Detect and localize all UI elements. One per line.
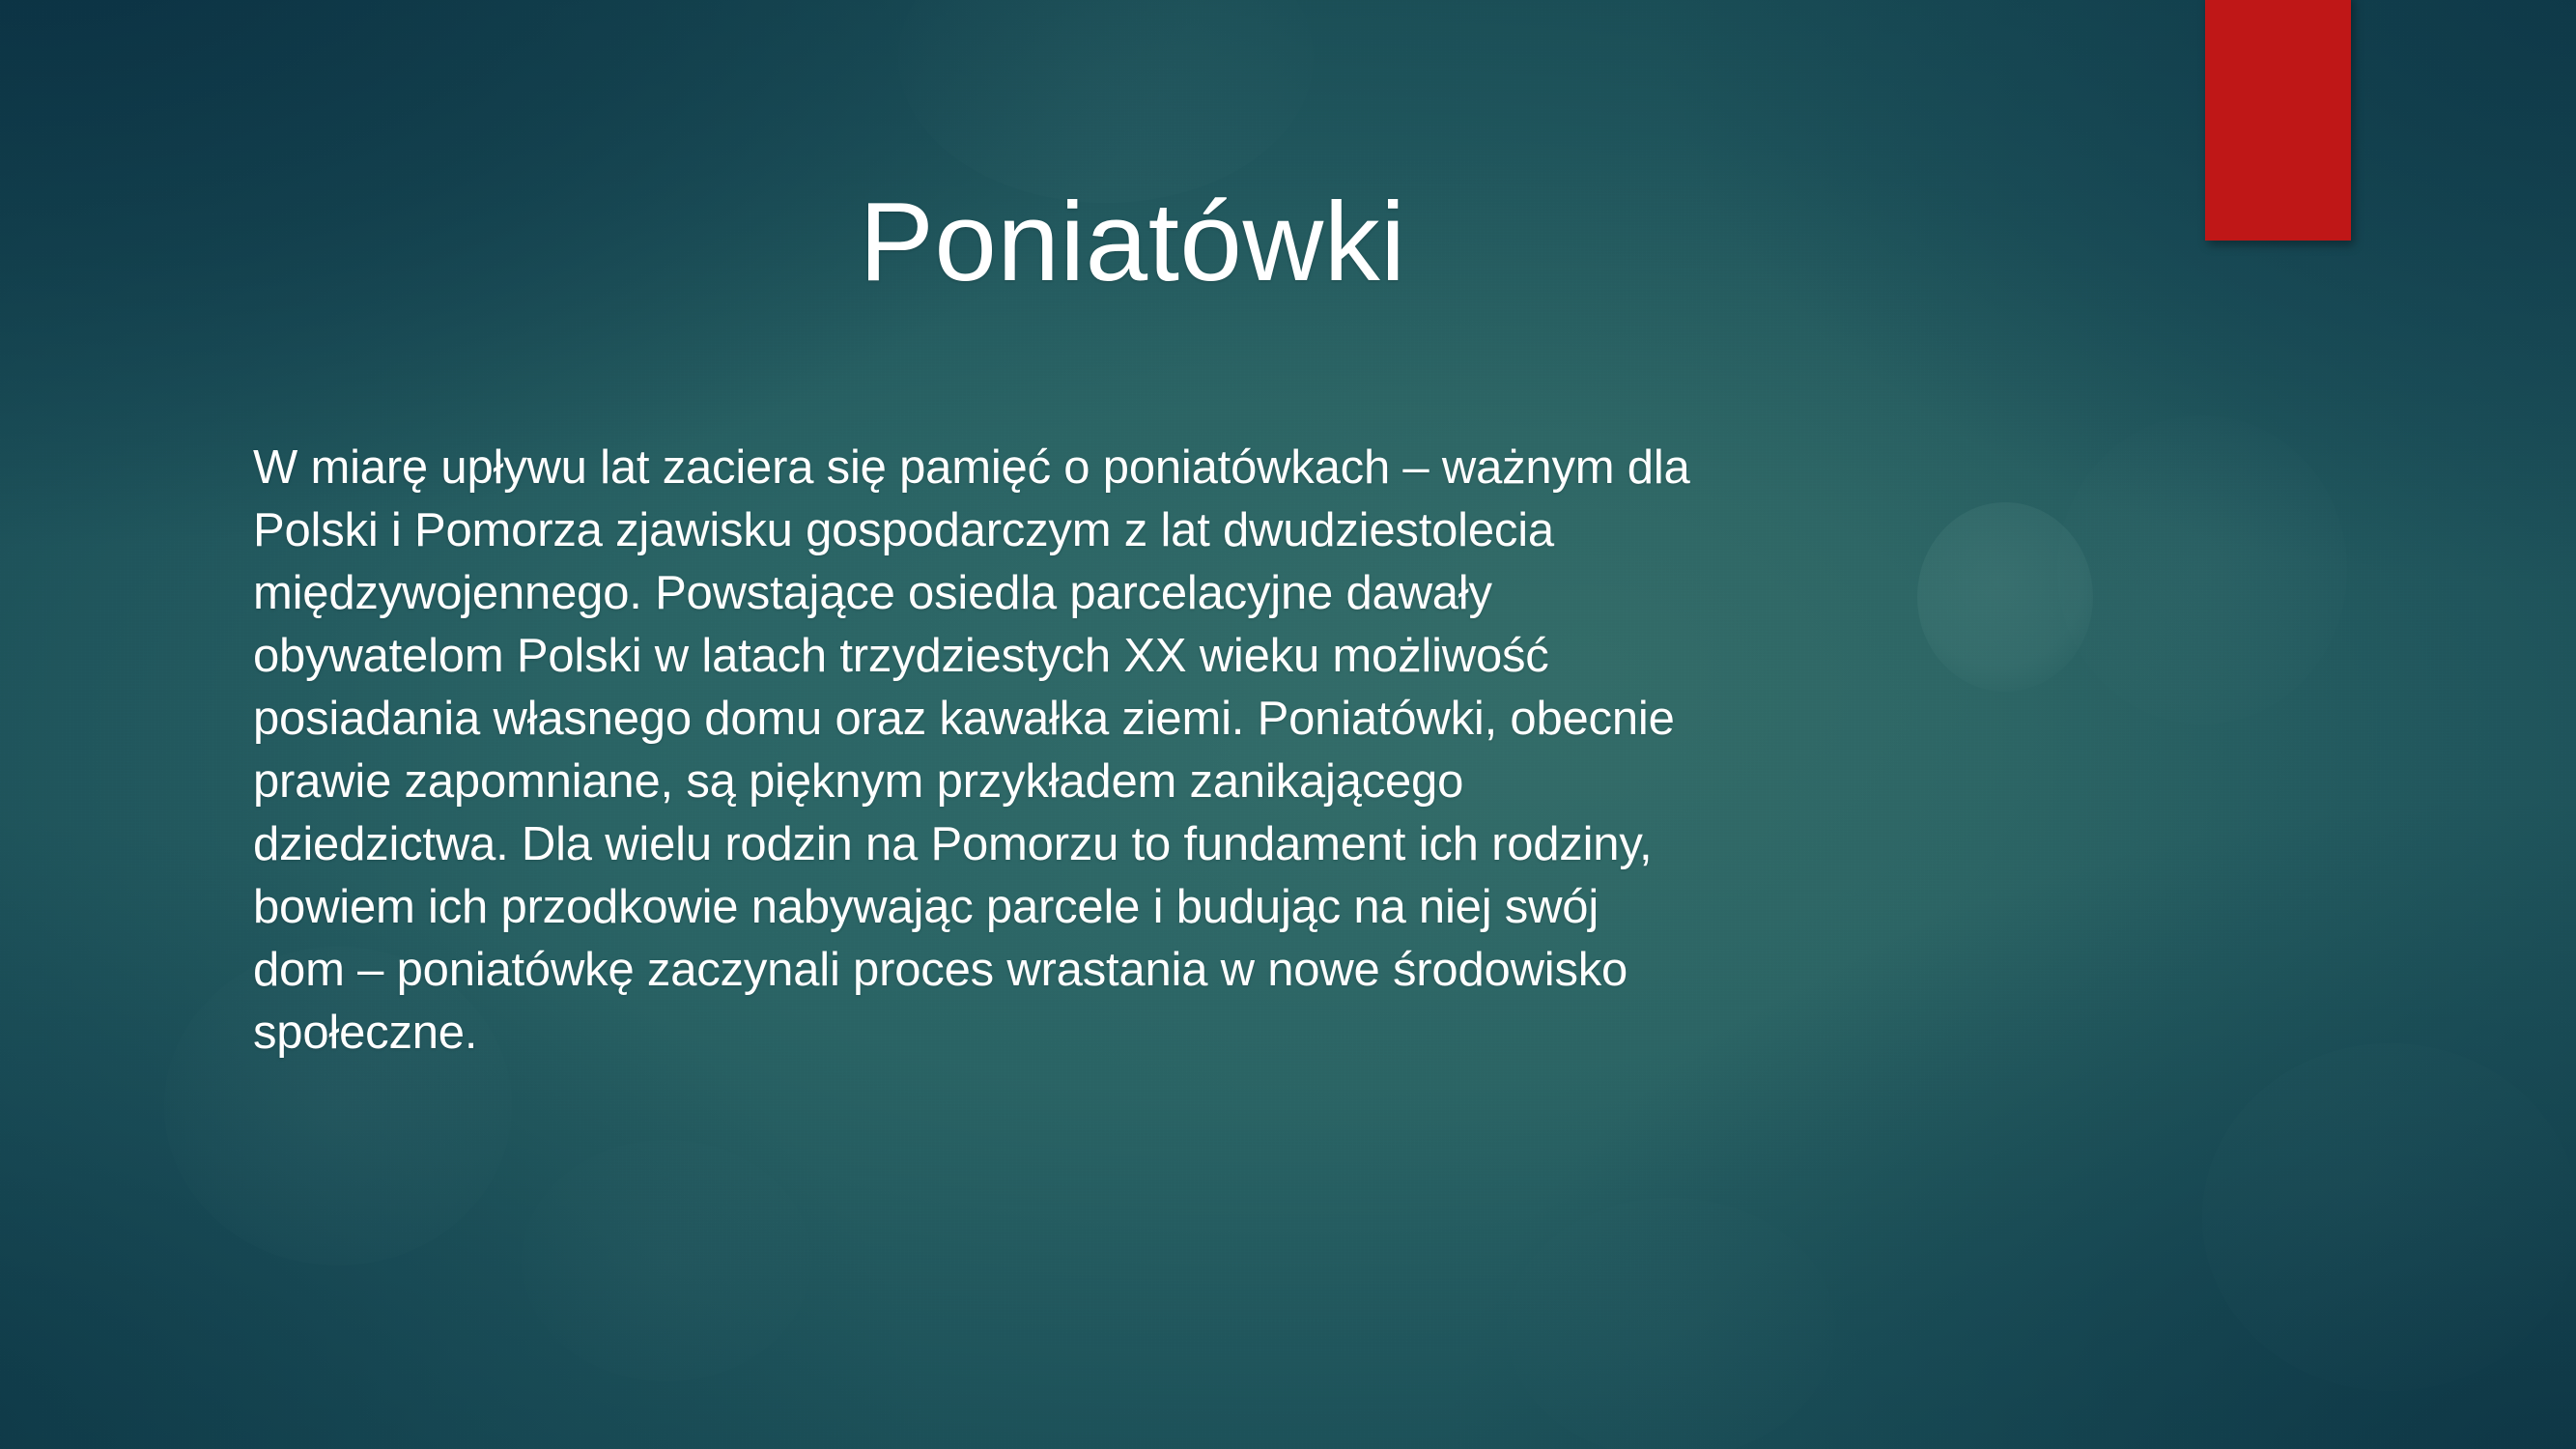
slide-title: Poniatówki bbox=[0, 180, 2265, 305]
body-line: posiadania własnego domu oraz kawałka zi… bbox=[253, 688, 2108, 751]
body-line: bowiem ich przodkowie nabywając parcele … bbox=[253, 876, 2108, 939]
body-line: obywatelom Polski w latach trzydziestych… bbox=[253, 625, 2108, 688]
body-line: W miarę upływu lat zaciera się pamięć o … bbox=[253, 437, 2108, 499]
body-line: międzywojennego. Powstające osiedla parc… bbox=[253, 562, 2108, 625]
body-line: prawie zapomniane, są pięknym przykładem… bbox=[253, 751, 2108, 813]
body-line: dom – poniatówkę zaczynali proces wrasta… bbox=[253, 939, 2108, 1002]
body-line: Polski i Pomorza zjawisku gospodarczym z… bbox=[253, 499, 2108, 562]
body-line: dziedzictwa. Dla wielu rodzin na Pomorzu… bbox=[253, 813, 2108, 876]
presentation-slide: Poniatówki W miarę upływu lat zaciera si… bbox=[0, 0, 2576, 1449]
body-line: społeczne. bbox=[253, 1002, 2108, 1065]
slide-body-text: W miarę upływu lat zaciera się pamięć o … bbox=[253, 437, 2108, 1065]
